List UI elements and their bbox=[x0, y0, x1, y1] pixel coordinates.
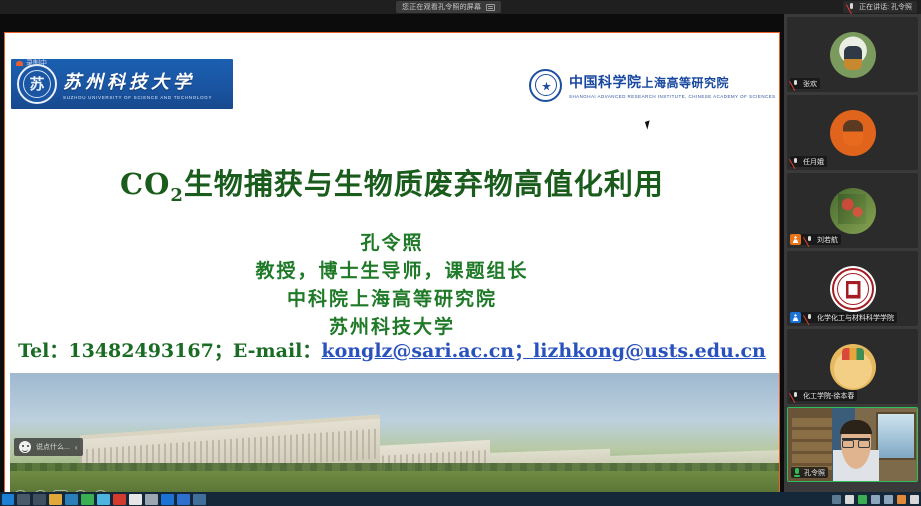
wechat-icon[interactable] bbox=[81, 494, 94, 505]
next-slide-button[interactable]: → bbox=[93, 490, 108, 492]
emoji-icon[interactable] bbox=[19, 441, 31, 453]
presenter-org-1: 中科院上海高等研究院 bbox=[5, 285, 779, 313]
cloud-icon[interactable] bbox=[832, 495, 841, 504]
mic-muted-icon bbox=[792, 157, 800, 166]
viewing-screen-status[interactable]: 您正在观看孔令照的屏幕 bbox=[396, 1, 501, 13]
recording-dot-icon bbox=[16, 61, 23, 66]
presenter-name: 孔令照 bbox=[5, 229, 779, 257]
clock-icon[interactable] bbox=[910, 495, 919, 504]
cas-cn-sub: 上海高等研究院 bbox=[642, 76, 730, 90]
tel-value: 13482493167； bbox=[68, 340, 232, 362]
seal-glyph: 苏 bbox=[29, 77, 44, 92]
bookshelf-background bbox=[792, 418, 832, 470]
cas-institute-logo: 中国科学院上海高等研究院 SHANGHAI ADVANCED RESEARCH … bbox=[529, 67, 779, 103]
participant-tile-4[interactable]: 化工学院-徐本春 bbox=[787, 329, 918, 404]
previous-slide-button[interactable]: ← bbox=[13, 490, 28, 492]
participant-name: 任月娥 bbox=[803, 157, 824, 167]
tel-label: Tel： bbox=[18, 340, 68, 362]
tencent-meeting-icon[interactable] bbox=[161, 494, 174, 505]
person-hair bbox=[840, 420, 872, 434]
person-glasses bbox=[842, 438, 870, 444]
chevron-left-icon[interactable]: ‹ bbox=[75, 443, 78, 452]
cas-seal-icon bbox=[529, 69, 562, 102]
slide-title: CO2生物捕获与生物质废弃物高值化利用 bbox=[5, 161, 779, 206]
folder-icon[interactable] bbox=[193, 494, 206, 505]
qq-icon[interactable] bbox=[97, 494, 110, 505]
mic-active-icon bbox=[793, 468, 801, 477]
cas-cn-main: 中国科学院 bbox=[569, 75, 642, 91]
viewing-screen-label: 您正在观看孔令照的屏幕 bbox=[402, 2, 481, 12]
participant-namebar: 刘若航 bbox=[790, 234, 841, 245]
window-background bbox=[876, 412, 916, 460]
captions-button[interactable]: CC bbox=[53, 490, 68, 492]
avatar bbox=[830, 344, 876, 390]
note-icon[interactable] bbox=[845, 495, 854, 504]
avatar bbox=[830, 266, 876, 312]
contact-line: Tel：13482493167；E-mail：konglz@sari.ac.cn… bbox=[5, 336, 779, 363]
participant-name: 化学化工与材料科学学院 bbox=[817, 313, 894, 323]
participant-namebar: 化学化工与材料科学学院 bbox=[790, 312, 897, 323]
slide-body: 孔令照 教授，博士生导师，课题组长 中科院上海高等研究院 苏州科技大学 bbox=[5, 229, 779, 341]
slide-title-subscript: 2 bbox=[170, 185, 184, 206]
cohost-badge-icon bbox=[790, 312, 801, 323]
participant-tile-5-active-speaker[interactable]: 孔令照 bbox=[787, 407, 918, 482]
avatar bbox=[830, 188, 876, 234]
quick-chat-overlay[interactable]: 说点什么... ‹ bbox=[14, 438, 83, 456]
campus-building-photo bbox=[10, 373, 779, 492]
participant-name: 张欢 bbox=[803, 79, 817, 89]
powerpoint-icon[interactable] bbox=[145, 494, 158, 505]
mic-muted-icon bbox=[848, 3, 855, 12]
participant-name: 刘若航 bbox=[817, 235, 838, 245]
task-view-icon[interactable] bbox=[33, 494, 46, 505]
participant-namebar: 张欢 bbox=[790, 78, 820, 89]
host-badge-icon bbox=[790, 234, 801, 245]
chrome-icon[interactable] bbox=[177, 494, 190, 505]
mic-muted-icon bbox=[792, 391, 800, 400]
active-speaker-indicator: 正在讲话: 孔令照 bbox=[843, 1, 917, 13]
system-tray[interactable] bbox=[832, 495, 919, 504]
participant-namebar: 孔令照 bbox=[791, 467, 828, 478]
participant-panel[interactable]: 张欢 任月娥 刘若航 化学化工与材料科 bbox=[784, 14, 921, 492]
recording-label: 录制中 bbox=[26, 58, 47, 68]
pen-tool-button[interactable]: △ bbox=[33, 490, 48, 492]
participant-name: 孔令照 bbox=[804, 468, 825, 478]
presenter-role: 教授，博士生导师，课题组长 bbox=[5, 257, 779, 285]
recording-indicator: 录制中 bbox=[16, 58, 47, 68]
email-label: E-mail： bbox=[233, 340, 322, 362]
suzhou-university-cn-name: 苏州科技大学 bbox=[63, 68, 212, 94]
shield-icon[interactable] bbox=[858, 495, 867, 504]
presentation-slide[interactable]: 苏 苏州科技大学 SUZHOU UNIVERSITY OF SCIENCE AN… bbox=[5, 33, 779, 492]
mouse-cursor-icon bbox=[645, 120, 652, 129]
university-seal-icon bbox=[832, 268, 874, 310]
more-options-button[interactable]: ••• bbox=[73, 490, 88, 492]
shared-screen-area[interactable]: 苏 苏州科技大学 SUZHOU UNIVERSITY OF SCIENCE AN… bbox=[0, 14, 784, 492]
cas-en-name: SHANGHAI ADVANCED RESEARCH INSTITUTE, CH… bbox=[569, 94, 776, 99]
edge-icon[interactable] bbox=[65, 494, 78, 505]
slide-title-rest: 生物捕获与生物质废弃物高值化利用 bbox=[184, 167, 664, 201]
participant-name: 化工学院-徐本春 bbox=[803, 391, 854, 401]
suzhou-university-en-name: SUZHOU UNIVERSITY OF SCIENCE AND TECHNOL… bbox=[63, 95, 212, 100]
suzhou-university-seal-icon: 苏 bbox=[17, 64, 57, 104]
lawn bbox=[10, 471, 779, 492]
windows-taskbar[interactable] bbox=[0, 492, 921, 506]
mic-muted-icon bbox=[806, 313, 814, 322]
search-icon[interactable] bbox=[17, 494, 30, 505]
meeting-top-bar: 您正在观看孔令照的屏幕 正在讲话: 孔令照 bbox=[0, 0, 921, 14]
avatar bbox=[830, 32, 876, 78]
email-link-2[interactable]: lizhkong@usts.edu.cn bbox=[533, 340, 766, 362]
mic-muted-icon bbox=[792, 79, 800, 88]
windows-start-icon[interactable] bbox=[2, 494, 14, 505]
participant-tile-2[interactable]: 刘若航 bbox=[787, 173, 918, 248]
speaking-label: 正在讲话: 孔令照 bbox=[859, 2, 912, 12]
presentation-controls[interactable]: ← △ CC ••• → bbox=[13, 490, 108, 492]
participant-tile-3[interactable]: 化学化工与材料科学学院 bbox=[787, 251, 918, 326]
mic-muted-icon bbox=[806, 235, 814, 244]
pdf-icon[interactable] bbox=[113, 494, 126, 505]
wifi-icon[interactable] bbox=[871, 495, 880, 504]
participant-namebar: 任月娥 bbox=[790, 156, 827, 167]
tencent-meeting-window: 您正在观看孔令照的屏幕 正在讲话: 孔令照 苏 苏州科技大学 SUZHOU UN… bbox=[0, 0, 921, 506]
email-link-1[interactable]: konglz@sari.ac.cn； bbox=[321, 340, 533, 362]
word-icon[interactable] bbox=[129, 494, 142, 505]
ime-icon[interactable] bbox=[897, 495, 906, 504]
chat-input-placeholder[interactable]: 说点什么... bbox=[36, 442, 70, 452]
file-explorer-icon[interactable] bbox=[49, 494, 62, 505]
volume-icon[interactable] bbox=[884, 495, 893, 504]
slide-title-co: CO bbox=[120, 167, 170, 201]
participant-namebar: 化工学院-徐本春 bbox=[790, 390, 857, 401]
avatar bbox=[830, 110, 876, 156]
participant-tile-1[interactable]: 任月娥 bbox=[787, 95, 918, 170]
participant-tile-0[interactable]: 张欢 bbox=[787, 17, 918, 92]
screen-share-icon[interactable] bbox=[486, 4, 495, 11]
